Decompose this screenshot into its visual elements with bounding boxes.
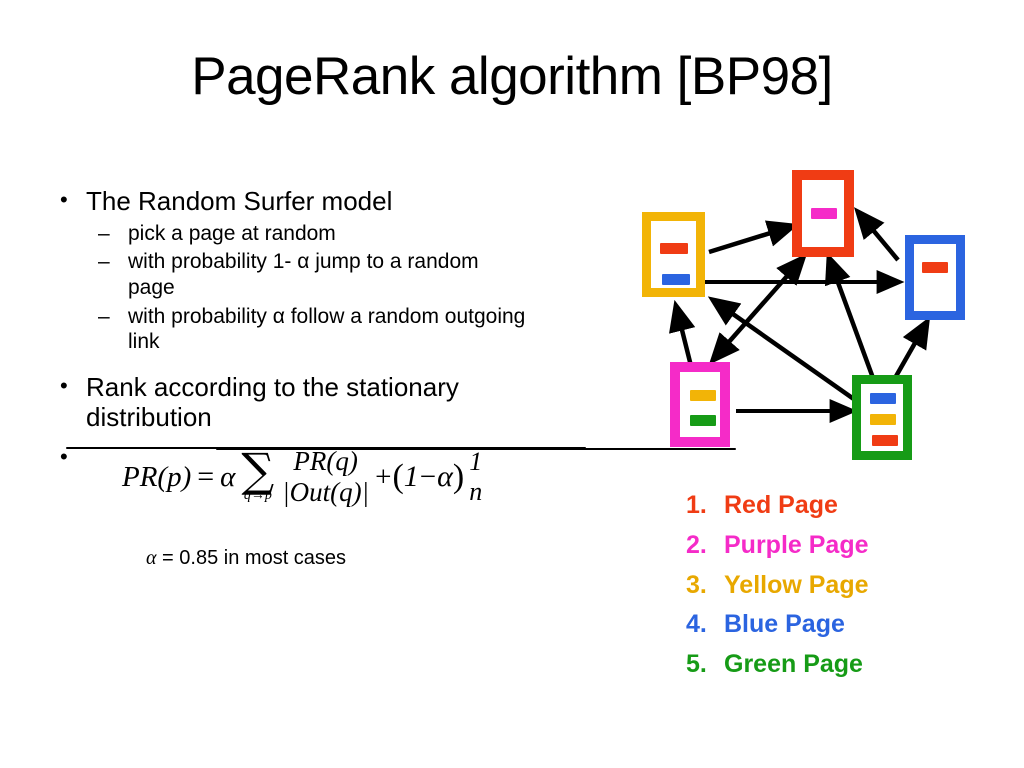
rank-number: 2. (686, 526, 724, 566)
formula-equals: = (191, 460, 220, 494)
rank-label-green-page: Green Page (724, 645, 1006, 685)
rank-label-red-page: Red Page (724, 486, 1006, 526)
dash-glyph: – (98, 304, 128, 330)
formula-fraction-one-n: 1 n (466, 448, 485, 506)
red-page-node[interactable] (792, 170, 854, 257)
formula-lhs: PR(p) (122, 461, 191, 494)
dash-glyph: – (98, 249, 128, 275)
edge-yellow-to-red (709, 226, 793, 252)
rank-label-purple-page: Purple Page (724, 526, 1006, 566)
page-title: PageRank algorithm [BP98] (0, 48, 1024, 106)
spacer (56, 358, 576, 372)
bullet-glyph: • (56, 186, 86, 214)
red-link-bar (872, 435, 898, 446)
body-text-block: • The Random Surfer model – pick a page … (56, 186, 576, 570)
formula-fraction-numerator: PR(q) (290, 447, 360, 477)
formula-summation: ∑ q→p (241, 451, 274, 503)
bullet-formula-row: • PR(p) = α ∑ q→p PR(q) |Out(q)| + (56, 443, 576, 570)
formula-fraction-pr-out: PR(q) |Out(q)| (279, 447, 372, 507)
red-link-bar (922, 262, 948, 273)
formula-fraction2-numerator: 1 (466, 448, 485, 477)
edge-magenta-to-yellow (676, 306, 691, 366)
magenta-page-content (680, 372, 720, 437)
yellow-page-content (651, 221, 696, 288)
yellow-page-node[interactable] (642, 212, 705, 297)
sub-bullet-follow-link: – with probability α follow a random out… (98, 304, 528, 355)
web-graph-diagram (630, 160, 990, 480)
green-page-content (861, 384, 903, 451)
yellow-link-bar (870, 414, 896, 425)
sub-bullet-pick-page-label: pick a page at random (128, 221, 528, 247)
sub-bullet-follow-link-label: with probability α follow a random outgo… (128, 304, 528, 355)
sigma-icon: ∑ (241, 451, 274, 490)
formula-one: 1 (404, 460, 419, 494)
formula-sum-subscript: q→p (244, 489, 272, 503)
formula-alpha-2: α (437, 460, 453, 494)
edge-green-to-blue (895, 322, 927, 378)
page-rank-legend-list: 1. Red Page 2. Purple Page 3. Yellow Pag… (686, 486, 1006, 685)
blue-link-bar (662, 274, 690, 285)
rank-label-blue-page: Blue Page (724, 605, 1006, 645)
formula-fraction2-denominator: n (466, 477, 485, 506)
blue-link-bar (870, 393, 896, 404)
rank-label-yellow-page: Yellow Page (724, 566, 1006, 606)
pagerank-equation: PR(p) = α ∑ q→p PR(q) |Out(q)| + ( 1 (122, 447, 487, 507)
blue-page-content (914, 244, 956, 311)
bullet-rank-stationary: • Rank according to the stationary distr… (56, 372, 576, 433)
red-page-content (802, 180, 844, 247)
blue-page-node[interactable] (905, 235, 965, 320)
alpha-note-text: in most cases (224, 547, 346, 569)
sub-bullet-jump-random-label: with probability 1- α jump to a random p… (128, 249, 528, 300)
formula-paren-close: ) (453, 458, 464, 496)
formula-fraction-denominator: |Out(q)| (279, 477, 372, 507)
dash-glyph: – (98, 221, 128, 247)
red-link-bar (660, 243, 688, 254)
rank-number: 5. (686, 645, 724, 685)
formula-paren-open: ( (392, 458, 403, 496)
magenta-link-bar (811, 208, 837, 219)
alpha-note-value: = 0.85 (157, 547, 224, 569)
rank-number: 3. (686, 566, 724, 606)
sub-bullet-pick-page: – pick a page at random (98, 221, 528, 247)
yellow-link-bar (690, 390, 716, 401)
alpha-value-note: α = 0.85 in most cases (146, 547, 487, 570)
sub-bullet-jump-random: – with probability 1- α jump to a random… (98, 249, 528, 300)
list-item: 5. Green Page (686, 645, 1006, 685)
formula-alpha: α (220, 461, 238, 494)
formula-minus: − (419, 461, 437, 494)
edge-green-to-red (829, 258, 873, 378)
bullet-rank-stationary-label: Rank according to the stationary distrib… (86, 372, 576, 433)
bullet-random-surfer: • The Random Surfer model (56, 186, 576, 217)
rank-number: 4. (686, 605, 724, 645)
magenta-page-node[interactable] (670, 362, 730, 447)
bullet-glyph: • (56, 372, 86, 400)
rank-number: 1. (686, 486, 724, 526)
green-page-node[interactable] (852, 375, 912, 460)
slide-canvas: PageRank algorithm [BP98] • The Random S… (0, 0, 1024, 768)
bullet-random-surfer-label: The Random Surfer model (86, 186, 576, 217)
list-item: 3. Yellow Page (686, 566, 1006, 606)
green-link-bar (690, 415, 716, 426)
edge-magenta-to-red (713, 300, 858, 402)
formula-plus: + (374, 461, 392, 494)
alpha-note-symbol: α (146, 547, 157, 569)
pagerank-formula: PR(p) = α ∑ q→p PR(q) |Out(q)| + ( 1 (122, 447, 487, 570)
list-item: 2. Purple Page (686, 526, 1006, 566)
edge-blue-to-red (858, 212, 898, 260)
list-item: 4. Blue Page (686, 605, 1006, 645)
list-item: 1. Red Page (686, 486, 1006, 526)
